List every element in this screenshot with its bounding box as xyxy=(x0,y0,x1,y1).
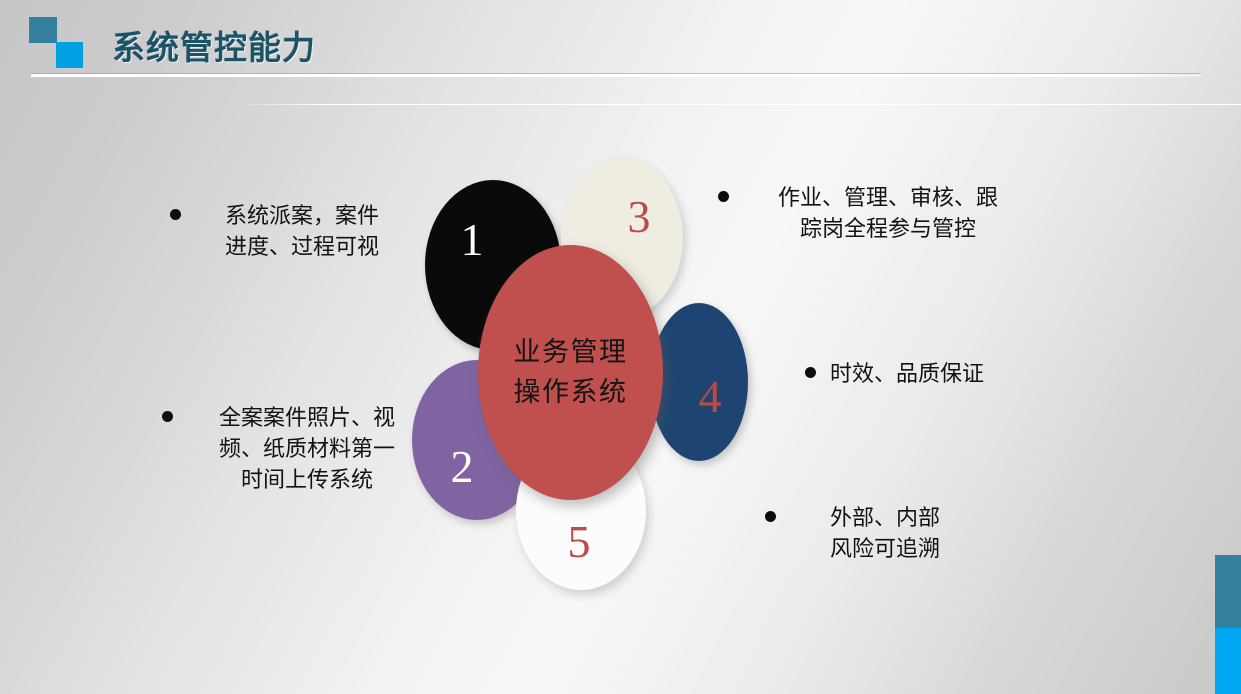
slide-canvas: 系统管控能力 1 3 4 2 5 业务管理 操作系统 系统派案，案件 进度、过程… xyxy=(0,0,1241,694)
diagram-center-node[interactable]: 业务管理 操作系统 xyxy=(478,245,663,500)
center-label-line-1: 业务管理 xyxy=(514,333,628,372)
diagram-petal-4[interactable]: 4 xyxy=(650,303,748,461)
center-label-line-2: 操作系统 xyxy=(514,373,628,412)
bullet-text-3: 作业、管理、审核、跟 踪岗全程参与管控 xyxy=(743,182,1033,244)
bullet-dot-icon xyxy=(162,411,173,422)
bullet-text-2: 全案案件照片、视 频、纸质材料第一 时间上传系统 xyxy=(187,402,427,496)
bullet-callout-4: 时效、品质保证 xyxy=(805,358,1045,389)
bullet-dot-icon xyxy=(805,367,816,378)
petal-number-2: 2 xyxy=(451,444,474,490)
bullet-dot-icon xyxy=(170,209,181,220)
bullet-callout-1: 系统派案，案件 进度、过程可视 xyxy=(170,200,410,262)
petal-number-5: 5 xyxy=(568,519,591,565)
bullet-callout-5: 外部、内部 风险可追溯 xyxy=(765,502,985,564)
bullet-dot-icon xyxy=(765,511,776,522)
bullet-text-5: 外部、内部 风险可追溯 xyxy=(790,502,980,564)
bullet-callout-3: 作业、管理、审核、跟 踪岗全程参与管控 xyxy=(718,182,1038,244)
bullet-text-1: 系统派案，案件 进度、过程可视 xyxy=(195,200,409,262)
petal-number-4: 4 xyxy=(699,374,722,420)
petal-number-3: 3 xyxy=(628,194,651,240)
bullet-text-4: 时效、品质保证 xyxy=(830,358,984,389)
bullet-dot-icon xyxy=(718,191,729,202)
bullet-callout-2: 全案案件照片、视 频、纸质材料第一 时间上传系统 xyxy=(162,402,427,496)
petal-diagram: 1 3 4 2 5 业务管理 操作系统 xyxy=(0,0,1241,694)
petal-number-1: 1 xyxy=(461,217,484,263)
